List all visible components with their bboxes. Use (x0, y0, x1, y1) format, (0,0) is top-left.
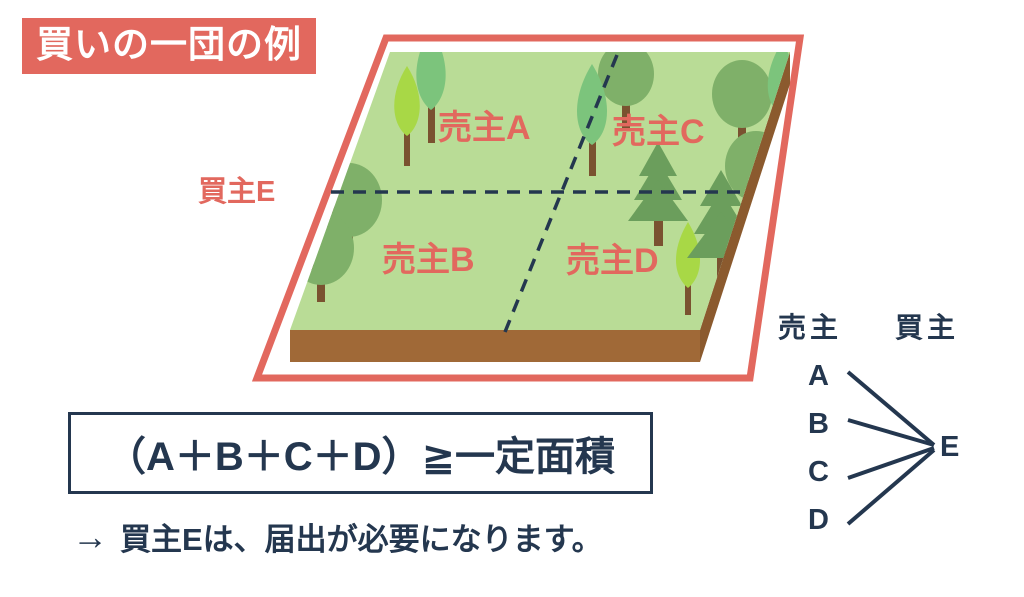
relation-diagram: 売主 買主 A B C D E (762, 300, 1024, 550)
buyer-plot-label: 買主E (198, 168, 275, 210)
diagram-canvas: 買いの一団の例 買主E 売主A 売主B 売主C 売主D （A＋B＋C＋D）≧一定… (0, 0, 1024, 597)
conclusion-line: → 買主Eは、届出が必要になります。 (72, 514, 603, 559)
soil-front-face (290, 330, 700, 362)
conclusion-text: 買主Eは、届出が必要になります。 (120, 514, 603, 559)
plot-label-seller-b: 売主B (382, 232, 475, 281)
plot-label-seller-a: 売主A (438, 100, 531, 149)
relation-connector-lines (762, 300, 1024, 550)
relation-node-c: C (808, 458, 829, 487)
arrow-icon: → (72, 519, 108, 555)
formula-text: （A＋B＋C＋D）≧一定面積 (106, 424, 615, 482)
plot-label-seller-d: 売主D (566, 233, 659, 282)
formula-box: （A＋B＋C＋D）≧一定面積 (68, 412, 653, 494)
relation-node-d: D (808, 506, 829, 535)
relation-node-e: E (940, 433, 959, 462)
relation-node-b: B (808, 410, 829, 439)
title-banner: 買いの一団の例 (22, 18, 316, 74)
plot-label-seller-c: 売主C (612, 104, 705, 153)
relation-node-a: A (808, 362, 829, 391)
